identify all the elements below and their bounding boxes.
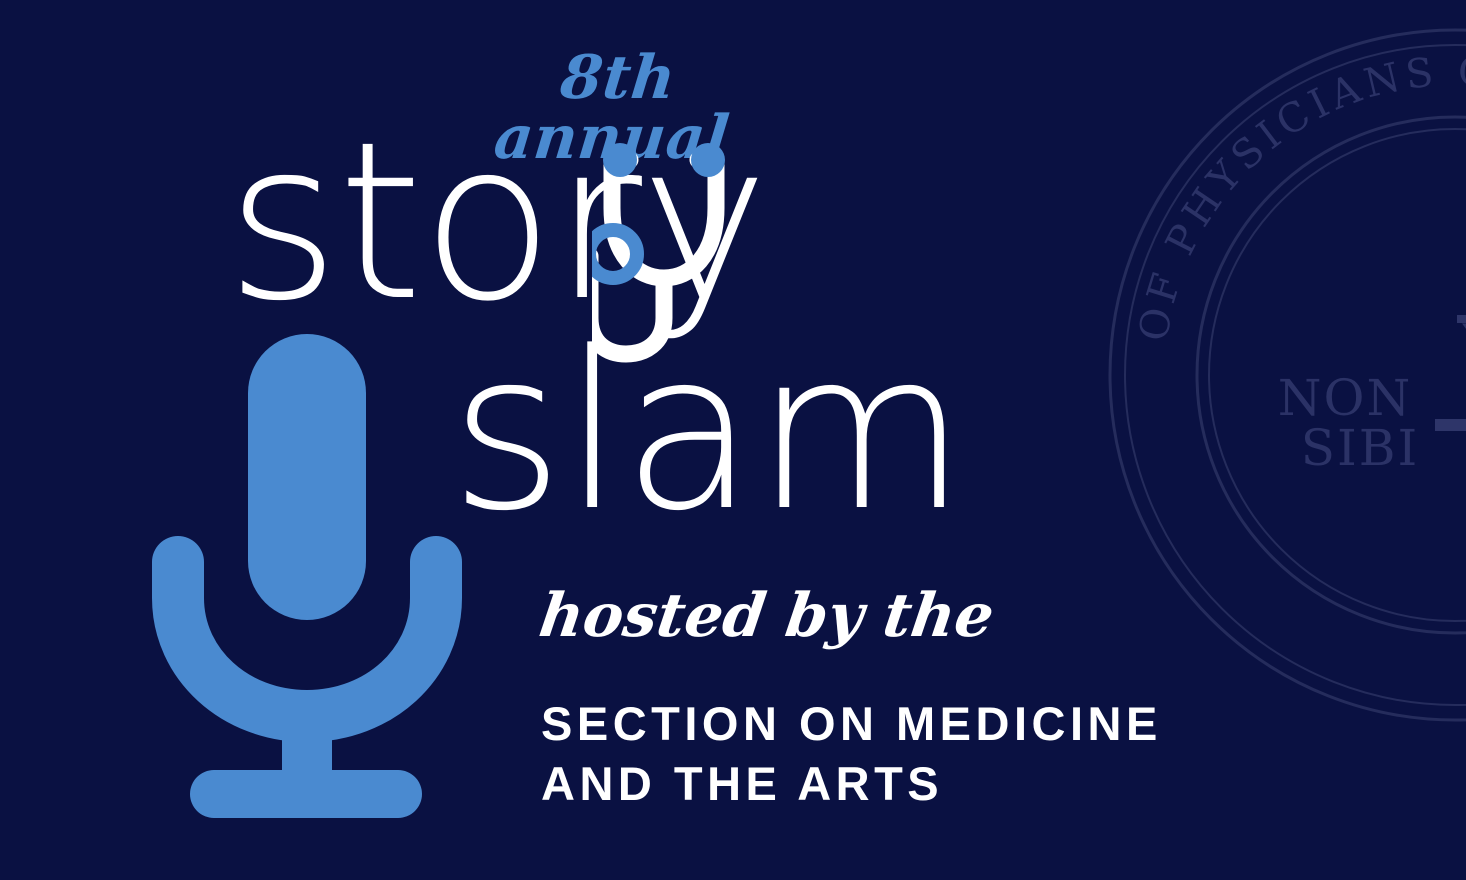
- stethoscope-eartip-left: [603, 143, 637, 177]
- seal-motto-sibi: SIBI: [1301, 419, 1420, 477]
- host-organization-line-2: AND THE ARTS: [541, 754, 1261, 814]
- hosted-by-label: hosted by the: [536, 586, 998, 646]
- college-seal-watermark: OF PHYSICIANS OF PHILADELPHIA THE COLLEG…: [1105, 25, 1466, 725]
- seal-arc-text-upper: OF PHYSICIANS OF PHILADELPHIA: [1105, 25, 1466, 364]
- seal-motto-non: NON: [1278, 369, 1413, 427]
- title-line-slam: slam: [450, 324, 966, 542]
- stethoscope-eartip-right: [691, 143, 725, 177]
- host-organization-line-1: SECTION ON MEDICINE: [541, 694, 1261, 754]
- microphone-stem: [282, 702, 332, 778]
- story-slam-poster: OF PHYSICIANS OF PHILADELPHIA THE COLLEG…: [0, 0, 1466, 880]
- seal-lamp-bowl: [1457, 315, 1466, 397]
- microphone-capsule: [248, 334, 366, 620]
- microphone-base: [190, 770, 422, 818]
- host-organization-name: SECTION ON MEDICINE AND THE ARTS: [541, 694, 1261, 814]
- seal-pedestal-top: [1435, 395, 1466, 431]
- microphone-icon: [140, 330, 470, 820]
